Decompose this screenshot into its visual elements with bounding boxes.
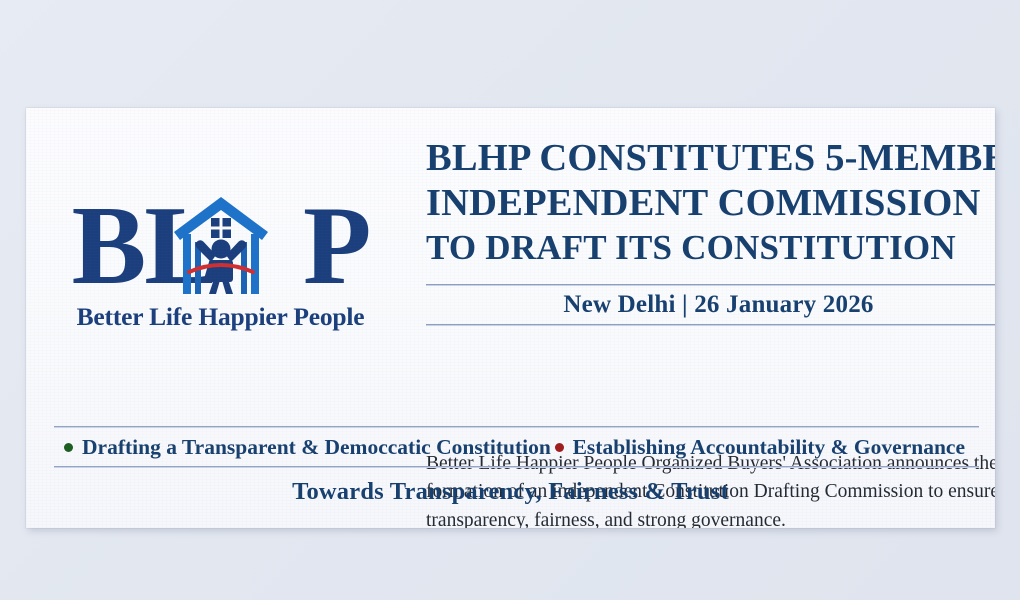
headline-line-2: INDEPENDENT COMMISSION [426,181,995,226]
headline-column: BLHP CONSTITUTES 5-MEMBER INDEPENDENT CO… [426,136,995,326]
house-with-person-and-ribbon-icon [169,192,273,296]
blhp-logo: BL P [48,186,393,332]
logo-letters-right: P [303,195,369,298]
bullet-dot-green [64,443,73,452]
bullet-band-rule-bottom [54,466,979,468]
logo-mark: BL P [48,186,393,298]
key-point-label-1: Drafting a Transparent & Democcatic Cons… [82,435,551,460]
key-point-item-1: Drafting a Transparent & Democcatic Cons… [64,435,551,460]
headline-line-3: TO DRAFT ITS CONSTITUTION [426,227,995,270]
poster-stage: BL P [0,0,1020,600]
key-point-label-2: Establishing Accountability & Governance [573,435,965,460]
headline-line-1: BLHP CONSTITUTES 5-MEMBER [426,136,995,181]
dateline-rule-bottom [426,324,995,326]
card-top-region: BL P [26,108,995,420]
bullet-dot-red [555,443,564,452]
press-release-card: BL P [26,108,995,528]
dateline: New Delhi | 26 January 2026 [426,286,995,324]
key-point-item-2: Establishing Accountability & Governance [555,435,965,460]
closing-tagline: Towards Transparency, Fairness & Trust [26,478,995,506]
key-points-row: Drafting a Transparent & Democcatic Cons… [54,428,979,466]
